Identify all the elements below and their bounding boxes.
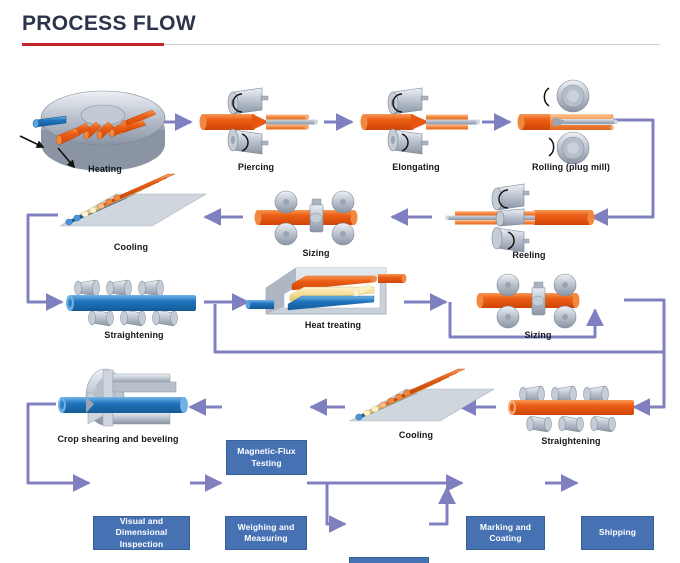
label-elongating: Elongating: [392, 162, 440, 172]
label-cooling-2: Cooling: [399, 430, 433, 440]
label-cooling-1: Cooling: [114, 242, 148, 252]
connector-ultrasonic-to-marking: [429, 488, 447, 524]
process-box-marking-coating[interactable]: Marking and Coating: [466, 516, 545, 550]
page-title: PROCESS FLOW: [22, 12, 196, 36]
label-piercing: Piercing: [238, 162, 274, 172]
marking-line-2: Coating: [489, 533, 521, 543]
process-flow-page: PROCESS FLOW: [0, 0, 680, 563]
magflux-line-1: Magnetic-Flux: [237, 446, 295, 456]
process-box-ultrasonic-inspection[interactable]: Ultrasonic Inspection: [349, 557, 429, 563]
sizing-mill-1-icon: [255, 191, 358, 245]
rotary-furnace-icon: [20, 91, 165, 171]
shipping-line-1: Shipping: [599, 527, 636, 538]
process-box-magnetic-flux-testing[interactable]: Magnetic-Flux Testing: [226, 440, 307, 475]
connector-cooling1-to-straightening1: [28, 215, 62, 302]
label-heating: Heating: [88, 164, 122, 174]
marking-line-1: Marking and: [480, 522, 531, 532]
label-sizing-2: Sizing: [524, 330, 551, 340]
straightening-2-icon: [508, 386, 634, 432]
reeling-mill-icon: [445, 184, 594, 252]
straightening-1-icon: [66, 280, 196, 326]
cooling-bed-1-icon: [60, 174, 206, 226]
label-reeling: Reeling: [512, 250, 545, 260]
process-box-shipping[interactable]: Shipping: [581, 516, 654, 550]
label-straightening-1: Straightening: [104, 330, 163, 340]
sizing-mill-2-icon: [477, 274, 580, 328]
label-crop-shearing: Crop shearing and beveling: [57, 434, 178, 444]
visual-line-1: Visual and: [120, 516, 163, 526]
label-straightening-2: Straightening: [541, 436, 600, 446]
process-box-visual-dimensional-inspection[interactable]: Visual and Dimensional Inspection: [93, 516, 190, 550]
magflux-line-2: Testing: [251, 458, 281, 468]
diagram-graphics: [0, 52, 680, 563]
page-header: PROCESS FLOW: [0, 0, 680, 52]
visual-line-2: Dimensional Inspection: [116, 527, 168, 548]
label-sizing-1: Sizing: [302, 248, 329, 258]
heat-treat-furnace-icon: [246, 268, 407, 314]
weighing-line-2: Measuring: [244, 533, 287, 543]
crop-shear-icon: [58, 369, 188, 426]
elongating-mill-icon: [361, 88, 481, 154]
process-flow-diagram: Heating Piercing Elongating Rolling (plu…: [0, 52, 680, 563]
header-accent-rule: [22, 43, 164, 46]
connector-weighing-to-ultrasonic: [327, 483, 345, 524]
plug-mill-icon: [518, 80, 618, 164]
label-heat-treating: Heat treating: [305, 320, 361, 330]
weighing-line-1: Weighing and: [238, 522, 295, 532]
label-rolling: Rolling (plug mill): [532, 162, 610, 172]
process-box-weighing-measuring[interactable]: Weighing and Measuring: [225, 516, 307, 550]
piercing-mill-icon: [200, 88, 319, 154]
cooling-bed-2-icon: [350, 369, 494, 421]
